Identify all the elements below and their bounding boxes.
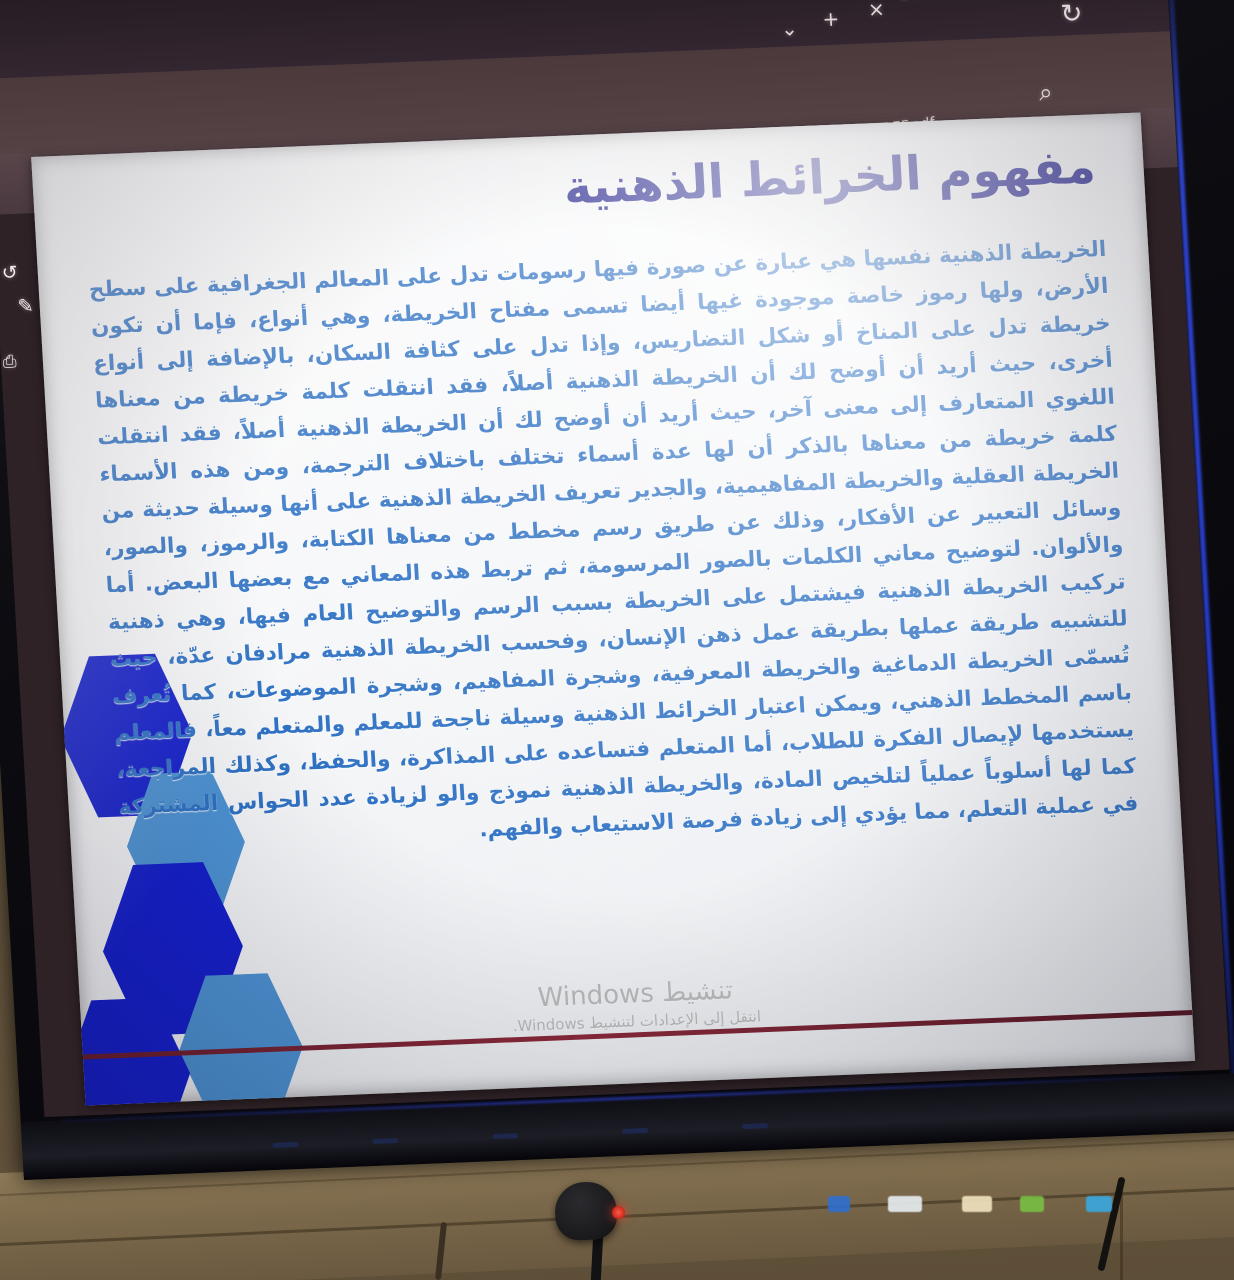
pdf-page: مفهوم الخرائط الذهنية الخريطة الذهنية نف… bbox=[31, 112, 1195, 1105]
reload-icon[interactable]: ↻ bbox=[1060, 1, 1083, 28]
slide-body-paragraph: الخريطة الذهنية نفسها هي عبارة عن صورة ف… bbox=[88, 232, 1139, 863]
slide-title: مفهوم الخرائط الذهنية bbox=[334, 138, 1097, 226]
sticker-blue bbox=[828, 1196, 850, 1212]
sticker-cream bbox=[962, 1196, 992, 1212]
photo-scene: ⌄ + × DD22F959-7639-4110- ☰ ↻ file:///C:… bbox=[0, 0, 1234, 1280]
rotate-icon[interactable]: ↺ bbox=[1, 264, 18, 284]
sticker-cyan bbox=[1086, 1196, 1112, 1212]
print-icon[interactable]: ⎙ bbox=[2, 354, 17, 372]
draw-icon[interactable]: ✎ bbox=[17, 297, 34, 317]
status-led-3 bbox=[492, 1133, 518, 1139]
new-tab-icon[interactable]: + bbox=[822, 9, 840, 30]
wall-mounted-display: ⌄ + × DD22F959-7639-4110- ☰ ↻ file:///C:… bbox=[0, 0, 1234, 1180]
status-led-4 bbox=[622, 1128, 648, 1134]
windows-activation-watermark: تنشيط Windows انتقل إلى الإعدادات لتنشيط… bbox=[510, 975, 761, 1036]
sticker-white bbox=[888, 1196, 922, 1212]
sticker-green bbox=[1020, 1196, 1044, 1212]
close-icon[interactable]: × bbox=[867, 0, 885, 19]
search-icon[interactable]: ⌕ bbox=[1038, 80, 1053, 105]
status-led-1 bbox=[272, 1142, 298, 1148]
power-led bbox=[612, 1206, 625, 1219]
status-led-2 bbox=[372, 1138, 398, 1144]
chevron-down-icon[interactable]: ⌄ bbox=[780, 18, 798, 39]
status-led-5 bbox=[742, 1123, 768, 1129]
screen-surface: ⌄ + × DD22F959-7639-4110- ☰ ↻ file:///C:… bbox=[0, 0, 1230, 1117]
